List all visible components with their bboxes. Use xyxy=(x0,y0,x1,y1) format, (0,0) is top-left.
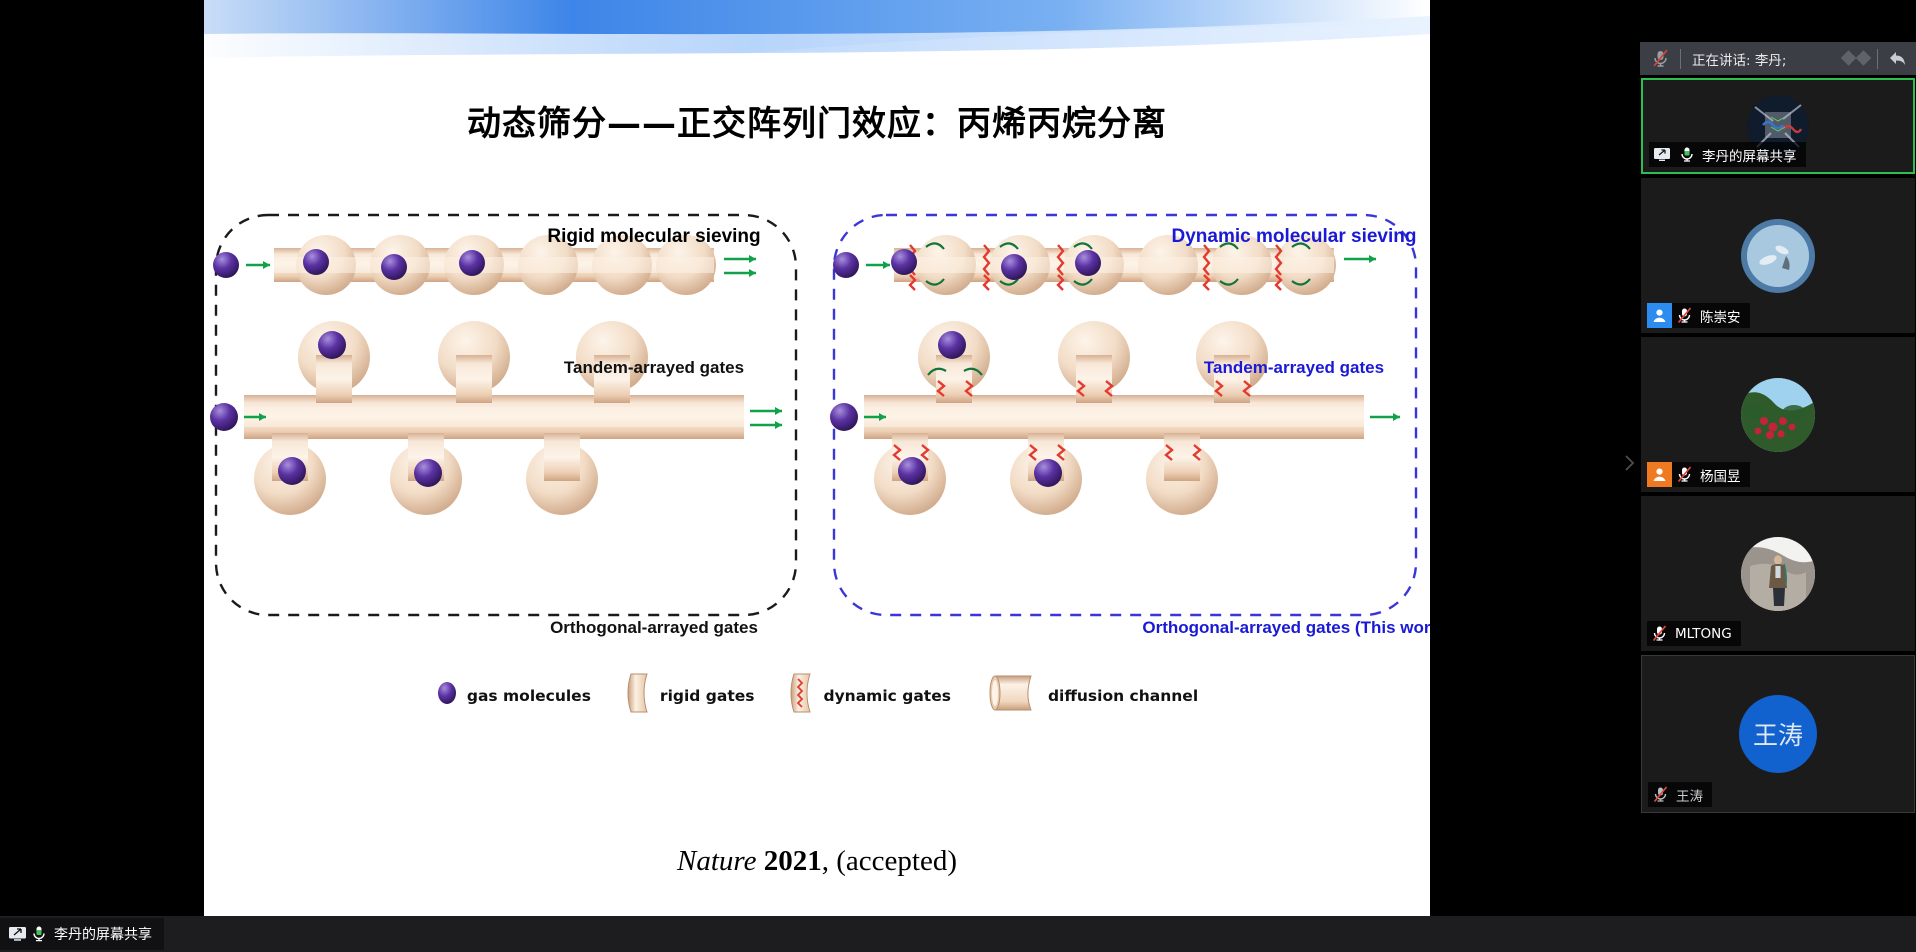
participant-tile[interactable]: 杨国昱 xyxy=(1641,337,1915,492)
participant-name: 李丹的屏幕共享 xyxy=(1699,145,1797,165)
rigid-gate-icon xyxy=(625,672,651,719)
participant-tile-active[interactable]: 李丹的屏幕共享 xyxy=(1641,78,1915,174)
mic-off-icon xyxy=(1672,466,1697,483)
legend-item-dynamic-gates: dynamic gates xyxy=(788,672,950,719)
participant-name: 杨国昱 xyxy=(1697,465,1741,485)
citation-year: 2021 xyxy=(764,845,822,877)
legend-item-diffusion-channel: diffusion channel xyxy=(985,672,1198,719)
legend-label: gas molecules xyxy=(467,687,591,705)
participants-rail: 正在讲话: 李丹; xyxy=(1640,0,1916,916)
person-icon xyxy=(1647,462,1672,487)
mic-on-icon xyxy=(1674,146,1699,163)
speaking-status-bar: 正在讲话: 李丹; xyxy=(1640,42,1916,75)
avatar-initials: 王涛 xyxy=(1739,695,1817,773)
mic-off-icon[interactable] xyxy=(1640,49,1680,68)
participant-name: MLTONG xyxy=(1672,626,1732,642)
legend-item-gas-molecules: gas molecules xyxy=(436,681,591,710)
participant-name: 王涛 xyxy=(1673,785,1703,805)
screen-share-icon xyxy=(1649,142,1674,167)
panel-heading-dynamic: Dynamic molecular sieving xyxy=(1094,226,1430,248)
mic-off-icon xyxy=(1647,625,1672,642)
participant-tile[interactable]: 王涛 王涛 xyxy=(1641,655,1915,813)
participant-tile[interactable]: MLTONG xyxy=(1641,496,1915,651)
presentation-slide: 动态筛分——正交阵列门效应：丙烯丙烷分离 xyxy=(204,0,1430,916)
participant-name: 陈崇安 xyxy=(1697,306,1741,326)
chevron-right-icon[interactable] xyxy=(1618,448,1640,478)
person-icon xyxy=(1647,303,1672,328)
mic-off-icon xyxy=(1648,786,1673,803)
figure-molecular-sieving xyxy=(204,205,1430,725)
back-arrow-icon[interactable] xyxy=(1878,50,1916,67)
taskbar-label: 李丹的屏幕共享 xyxy=(50,924,152,944)
label-tandem-arrayed-gates-dynamic: Tandem-arrayed gates xyxy=(1094,358,1430,378)
citation-suffix: , (accepted) xyxy=(822,845,957,877)
legend-label: rigid gates xyxy=(660,687,755,705)
participant-namebar: 杨国昱 xyxy=(1647,462,1750,487)
participant-namebar: 王涛 xyxy=(1648,782,1712,807)
taskbar-share-item[interactable]: 李丹的屏幕共享 xyxy=(0,918,164,950)
figure-legend: gas molecules rigid gates xyxy=(204,672,1430,719)
citation-text: Nature 2021, (accepted) xyxy=(204,845,1430,878)
label-orthogonal-arrayed-gates-rigid: Orthogonal-arrayed gates xyxy=(474,618,834,638)
slide-header-decoration xyxy=(204,0,1430,96)
speaking-label: 正在讲话: 李丹; xyxy=(1681,49,1839,69)
shared-screen-area[interactable]: 动态筛分——正交阵列门效应：丙烯丙烷分离 xyxy=(204,0,1430,916)
citation-journal: Nature xyxy=(677,845,756,877)
participant-namebar: MLTONG xyxy=(1647,621,1741,646)
legend-item-rigid-gates: rigid gates xyxy=(625,672,755,719)
zoom-meeting-window: 动态筛分——正交阵列门效应：丙烯丙烷分离 xyxy=(0,0,1916,952)
purple-sphere-icon xyxy=(436,681,458,710)
layout-grid-icon[interactable] xyxy=(1839,50,1877,67)
taskbar: 李丹的屏幕共享 xyxy=(0,916,1916,952)
participant-namebar: 李丹的屏幕共享 xyxy=(1649,142,1806,167)
screen-share-icon xyxy=(6,926,28,942)
mic-off-icon xyxy=(1672,307,1697,324)
legend-label: diffusion channel xyxy=(1048,687,1198,705)
mic-on-icon xyxy=(28,925,50,943)
label-orthogonal-arrayed-gates-dynamic: Orthogonal-arrayed gates (This work) xyxy=(1084,618,1430,638)
right-letterbox xyxy=(1430,0,1640,916)
legend-label: dynamic gates xyxy=(823,687,950,705)
left-letterbox xyxy=(0,0,204,916)
page-title: 动态筛分——正交阵列门效应：丙烯丙烷分离 xyxy=(204,96,1430,145)
diffusion-channel-icon xyxy=(985,672,1039,719)
dynamic-gate-icon xyxy=(788,672,814,719)
panel-heading-rigid: Rigid molecular sieving xyxy=(474,226,834,248)
participant-tile[interactable]: 陈崇安 xyxy=(1641,178,1915,333)
label-tandem-arrayed-gates-rigid: Tandem-arrayed gates xyxy=(474,358,834,378)
participant-namebar: 陈崇安 xyxy=(1647,303,1750,328)
